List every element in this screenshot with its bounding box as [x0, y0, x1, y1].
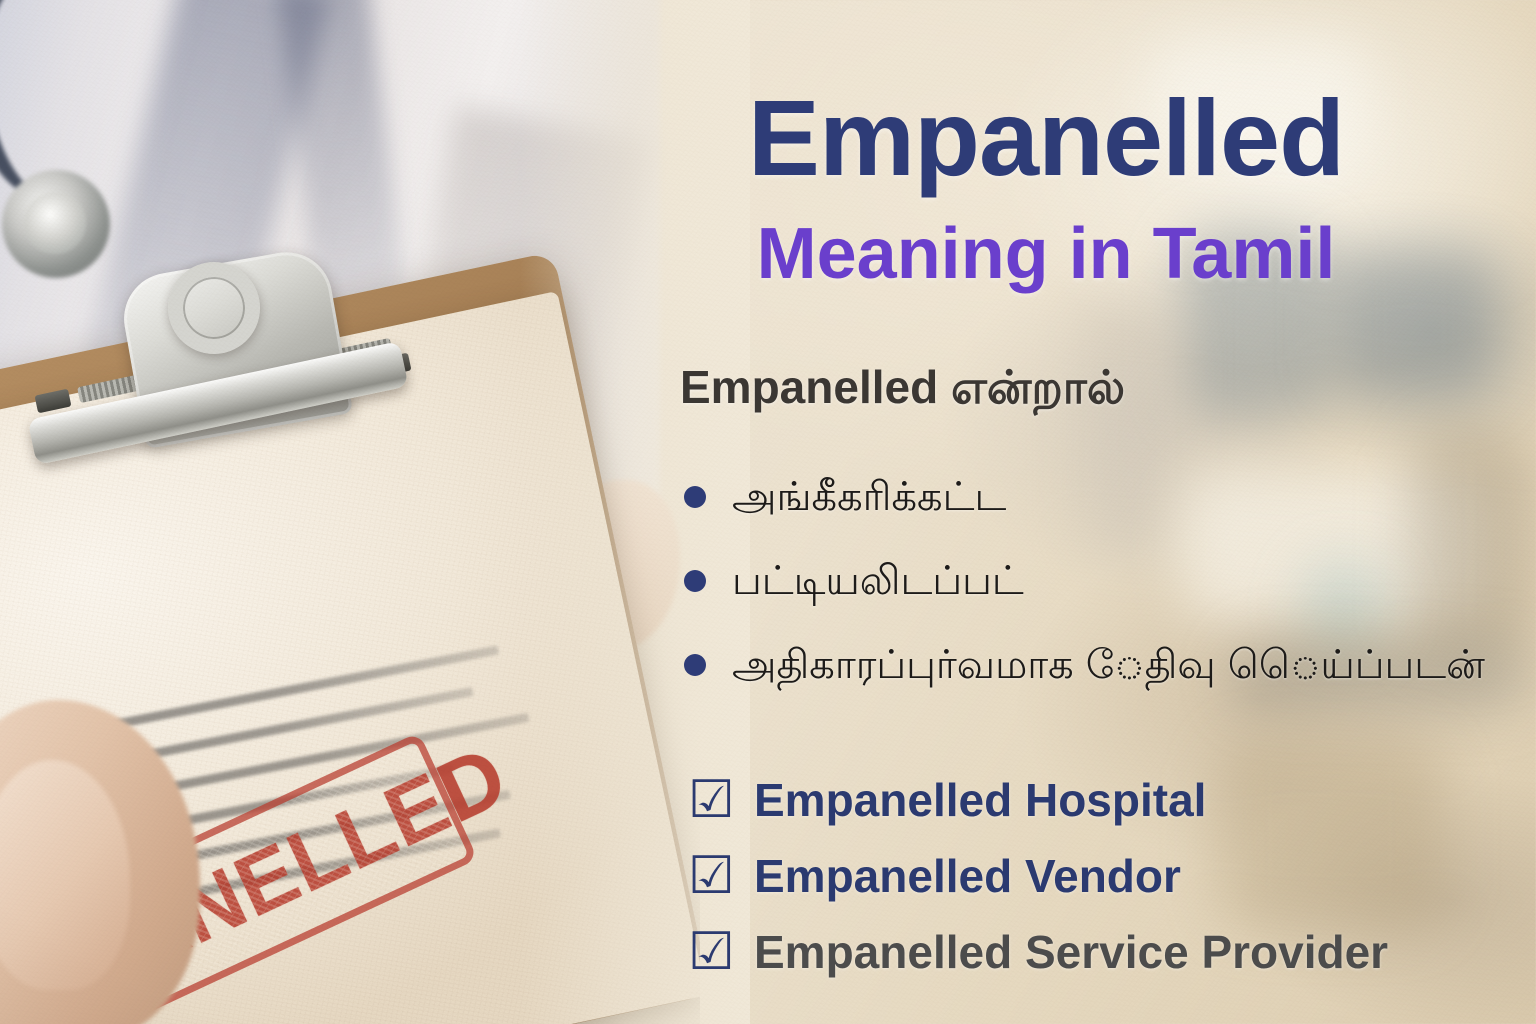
text-content: Empanelled Meaning in Tamil Empanelled எ… [556, 0, 1536, 1024]
list-item: ☑ Empanelled Vendor [688, 838, 1536, 914]
section-heading: Empanelled என்றால் [680, 362, 1125, 414]
meaning-text: அதிகாரப்புர்வமாக ேதிவு ெெய்ப்படன் [732, 641, 1485, 689]
list-item: ☑ Empanelled Service Provider [688, 914, 1536, 990]
checkbox-checked-icon: ☑ [688, 930, 732, 974]
bullet-dot-icon [684, 654, 706, 676]
list-item: பட்டியலிடப்பட் [684, 539, 1536, 623]
checkbox-checked-icon: ☑ [688, 854, 732, 898]
checkbox-checked-icon: ☑ [688, 778, 732, 822]
page-subtitle: Meaning in Tamil [560, 218, 1532, 290]
list-item: அதிகாரப்புர்வமாக ேதிவு ெெய்ப்படன் [684, 623, 1536, 707]
poster-canvas: EMPANELLED Empanelled Meaning in Tamil E… [0, 0, 1536, 1024]
usage-label: Empanelled Vendor [754, 853, 1181, 899]
bullet-dot-icon [684, 486, 706, 508]
meaning-text: பட்டியலிடப்பட் [732, 557, 1024, 605]
meanings-list: அங்கீகரிக்கட்ட பட்டியலிடப்பட் அதிகாரப்பு… [684, 455, 1536, 707]
list-item: ☑ Empanelled Hospital [688, 762, 1536, 838]
usage-label: Empanelled Hospital [754, 777, 1206, 823]
list-item: அங்கீகரிக்கட்ட [684, 455, 1536, 539]
meaning-text: அங்கீகரிக்கட்ட [732, 473, 1006, 521]
usages-list: ☑ Empanelled Hospital ☑ Empanelled Vendo… [688, 762, 1536, 990]
bullet-dot-icon [684, 570, 706, 592]
page-title: Empanelled [560, 84, 1532, 192]
usage-label: Empanelled Service Provider [754, 929, 1388, 975]
